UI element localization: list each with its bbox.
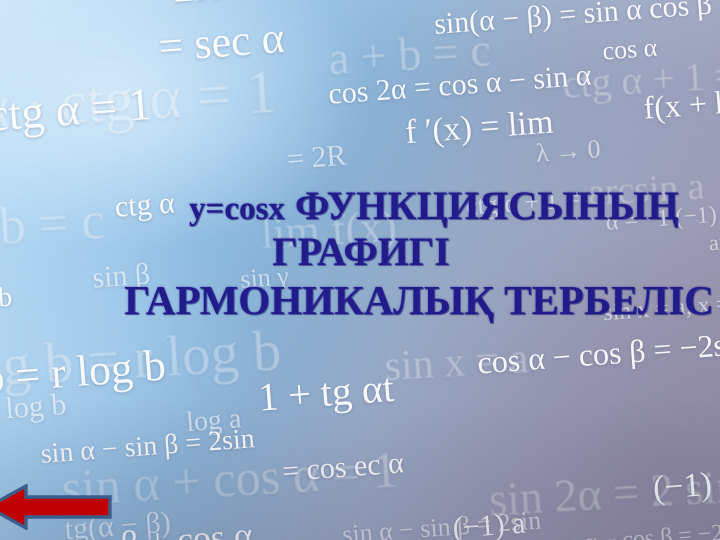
- presentation-slide: sin α + cos α = 1 sin 2α = 2 sin α cos α…: [0, 0, 720, 540]
- back-arrow-button[interactable]: [0, 484, 112, 530]
- back-arrow-icon[interactable]: [0, 484, 112, 530]
- background-vignette: [0, 0, 720, 540]
- back-arrow-shape[interactable]: [0, 486, 110, 528]
